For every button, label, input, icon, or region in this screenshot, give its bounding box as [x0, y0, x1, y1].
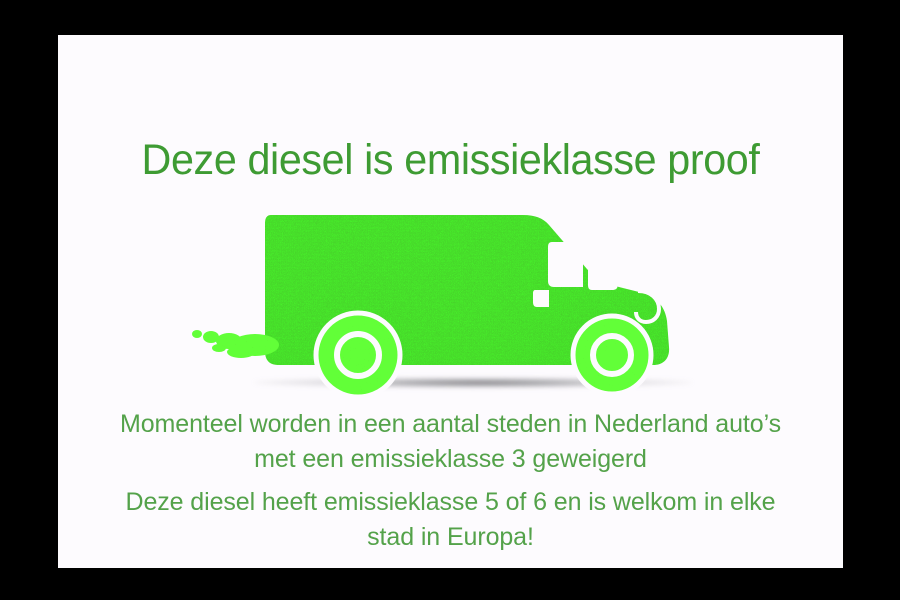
paragraph-1-line-1: Momenteel worden in een aantal steden in…	[58, 407, 843, 442]
paragraph-vehicle-compliance: Deze diesel heeft emissieklasse 5 of 6 e…	[58, 485, 843, 555]
paragraph-2-line-2: stad in Europa!	[58, 520, 843, 555]
paragraph-2-line-1: Deze diesel heeft emissieklasse 5 of 6 e…	[58, 485, 843, 520]
van-illustration	[183, 195, 723, 410]
emission-class-banner: Deze diesel is emissieklasse proof	[0, 0, 900, 600]
paragraph-1-line-2: met een emissieklasse 3 geweigerd	[58, 442, 843, 477]
front-wheel	[571, 314, 653, 396]
van-graphic	[183, 195, 723, 410]
rear-wheel	[314, 311, 402, 399]
paragraph-current-rules: Momenteel worden in een aantal steden in…	[58, 407, 843, 477]
page-title: Deze diesel is emissieklasse proof	[74, 135, 828, 185]
banner-canvas: Deze diesel is emissieklasse proof	[58, 35, 843, 568]
